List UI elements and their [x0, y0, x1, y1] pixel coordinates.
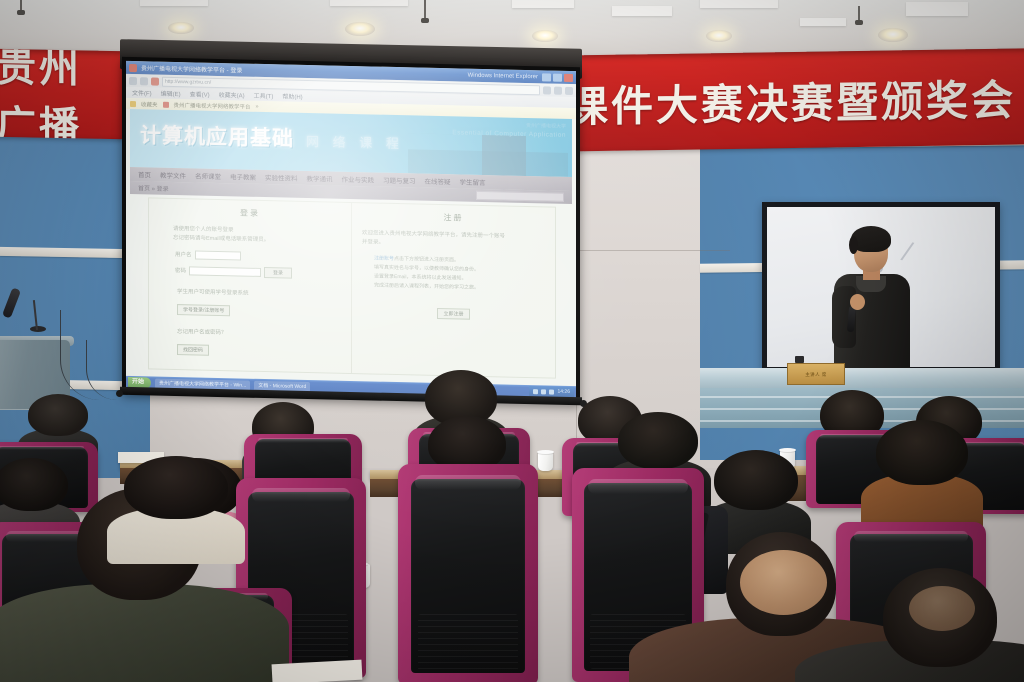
username-row: 用户名: [159, 249, 341, 262]
favorite-site-icon: [163, 101, 169, 107]
username-label: 用户名: [175, 250, 192, 258]
paper-cup: [538, 452, 553, 471]
nav-item-qa[interactable]: 在线答疑: [425, 176, 451, 187]
password-row: 密码 登录: [159, 264, 341, 279]
nav-item-master-class[interactable]: 名师课堂: [195, 170, 221, 181]
banner-right: 课件大赛决赛暨颁奖会: [552, 48, 1024, 152]
menu-item-help[interactable]: 帮助(H): [282, 91, 302, 100]
ceiling-downlight: [345, 22, 375, 36]
nav-item-messages[interactable]: 学生留言: [460, 176, 486, 187]
register-step-text-1: 点击下方按钮进入注册页面。: [394, 256, 459, 263]
chair-highlight: [415, 475, 521, 490]
ceiling-panel: [700, 0, 778, 8]
audience-member: [124, 456, 228, 564]
nav-item-lesson-plans[interactable]: 电子教案: [230, 171, 256, 182]
ceiling-panel: [330, 0, 408, 6]
close-icon[interactable]: [564, 73, 573, 81]
alt-login-button[interactable]: 学号登录/注册账号: [177, 304, 230, 316]
document-paper: [272, 660, 363, 682]
register-button[interactable]: 立即注册: [437, 308, 469, 320]
star-icon: [130, 100, 136, 106]
ceiling-downlight: [706, 30, 732, 42]
menu-item-file[interactable]: 文件(F): [132, 88, 152, 97]
audience-head: [28, 394, 88, 436]
register-column: 注册 欢迎您进入贵州电视大学网络教学平台，请先注册一个账号 并登录。 注册账号点…: [352, 203, 555, 378]
menu-item-tools[interactable]: 工具(T): [254, 91, 274, 100]
chair-back-ribs: [418, 614, 519, 671]
ceiling-panel: [800, 18, 846, 26]
menu-item-favorites[interactable]: 收藏夹(A): [219, 90, 245, 100]
projection-screen: 贵州广播电视大学网络教学平台 - 登录 Windows Internet Exp…: [122, 57, 580, 403]
recover-password-button[interactable]: 找回密码: [177, 344, 209, 356]
podium-device: [795, 356, 804, 363]
help-hint: 忘记用户名或密码？: [177, 327, 341, 339]
register-step-link[interactable]: 注册账号: [374, 255, 394, 261]
city-tower-graphic: [482, 135, 526, 176]
course-site-hero: 计算机应用基础 网 络 课 程 贵州广播电视大学 Essential of Co…: [130, 109, 572, 177]
audience-bald-spot: [740, 550, 827, 615]
nav-item-home[interactable]: 首页: [138, 169, 151, 179]
search-icon[interactable]: [565, 86, 573, 94]
alt-login-block: 学生用户可使用学号登录系统 学号登录/注册账号: [159, 286, 341, 319]
menu-item-edit[interactable]: 编辑(E): [161, 89, 181, 98]
ceiling-hook: [424, 0, 426, 20]
help-block: 忘记用户名或密码？ 找回密码: [159, 326, 341, 359]
ceiling-downlight: [878, 28, 908, 42]
audience-member: [876, 420, 968, 532]
audience-head: [714, 450, 798, 510]
register-button-wrap: 立即注册: [362, 300, 545, 322]
login-heading: 登录: [159, 206, 341, 221]
ceiling-panel: [140, 0, 208, 6]
course-subtitle: 网 络 课 程: [306, 131, 404, 152]
password-input[interactable]: [189, 266, 261, 277]
ceiling-panel: [612, 6, 672, 16]
browser-app-icon: [129, 63, 137, 71]
course-title: 计算机应用基础: [140, 119, 294, 152]
audience-head: [124, 456, 228, 519]
forward-icon[interactable]: [140, 77, 148, 85]
register-steps: 注册账号点击下方按钮进入注册页面。 填写真实姓名与学号，以便教师确认您的身份。 …: [374, 254, 545, 295]
menu-item-view[interactable]: 查看(V): [190, 89, 210, 98]
presenter-hand: [850, 294, 865, 310]
nav-item-newsletter[interactable]: 教学通讯: [307, 173, 333, 184]
projection-surface: 贵州广播电视大学网络教学平台 - 登录 Windows Internet Exp…: [126, 61, 576, 399]
register-heading: 注册: [362, 210, 545, 225]
audience-area: [0, 372, 1024, 682]
nav-item-homework[interactable]: 作业与实践: [342, 174, 375, 185]
browser-app-name: Windows Internet Explorer: [468, 72, 538, 80]
chair-highlight: [0, 446, 84, 451]
ceiling-hook: [858, 6, 860, 22]
ceiling-panel: [906, 2, 968, 16]
favorites-label[interactable]: 收藏夹: [141, 100, 158, 108]
ceiling-downlight: [168, 22, 194, 34]
nav-item-lab-materials[interactable]: 实验性资料: [265, 172, 298, 183]
login-column: 登录 请使用您个人的账号登录 忘记密码请与Email或电话联系管理员。 用户名 …: [149, 198, 352, 373]
ceiling-hook: [20, 0, 22, 12]
alt-login-hint: 学生用户可使用学号登录系统: [177, 287, 341, 299]
presenter-hair: [851, 226, 891, 252]
breadcrumb: 首页 » 登录: [138, 183, 169, 193]
ceiling-downlight: [532, 30, 558, 42]
banner-left: 贵州广播: [0, 49, 124, 139]
banner-left-text: 贵州广播: [0, 49, 124, 139]
username-input[interactable]: [195, 250, 241, 260]
chair-highlight: [588, 479, 688, 494]
banner-right-text: 课件大赛决赛暨颁奖会: [566, 66, 1016, 134]
window-buttons[interactable]: [542, 73, 573, 82]
minimize-icon[interactable]: [542, 73, 551, 81]
nav-item-teaching-docs[interactable]: 教学文件: [160, 170, 186, 181]
chair-highlight: [258, 438, 348, 443]
chair-empty[interactable]: [398, 464, 538, 682]
login-register-panel: 登录 请使用您个人的账号登录 忘记密码请与Email或电话联系管理员。 用户名 …: [148, 197, 556, 378]
maximize-icon[interactable]: [553, 73, 562, 81]
lecture-hall-photo: 贵州广播 课件大赛决赛暨颁奖会 贵州广播电视大学网络教学平台 - 登录 Wind…: [0, 0, 1024, 682]
password-label: 密码: [175, 266, 186, 274]
back-icon[interactable]: [129, 76, 137, 84]
audience-bald-spot: [909, 586, 975, 631]
site-search-input[interactable]: [476, 191, 564, 202]
hero-corner-text: 贵州广播电视大学: [526, 122, 566, 130]
nav-item-exercises[interactable]: 习题与复习: [383, 175, 416, 186]
audience-head: [618, 412, 698, 469]
favorites-overflow[interactable]: »: [256, 103, 259, 109]
favorites-item[interactable]: 贵州广播电视大学网络教学平台: [174, 100, 251, 110]
home-icon[interactable]: [151, 77, 159, 85]
stop-icon[interactable]: [554, 86, 562, 94]
audience-member: [830, 568, 1024, 682]
audience-head: [876, 420, 968, 485]
refresh-icon[interactable]: [543, 86, 551, 94]
presenter: [826, 222, 918, 378]
chair-highlight: [252, 488, 351, 502]
ceiling-panel: [512, 0, 574, 8]
login-submit-button[interactable]: 登录: [264, 267, 292, 279]
